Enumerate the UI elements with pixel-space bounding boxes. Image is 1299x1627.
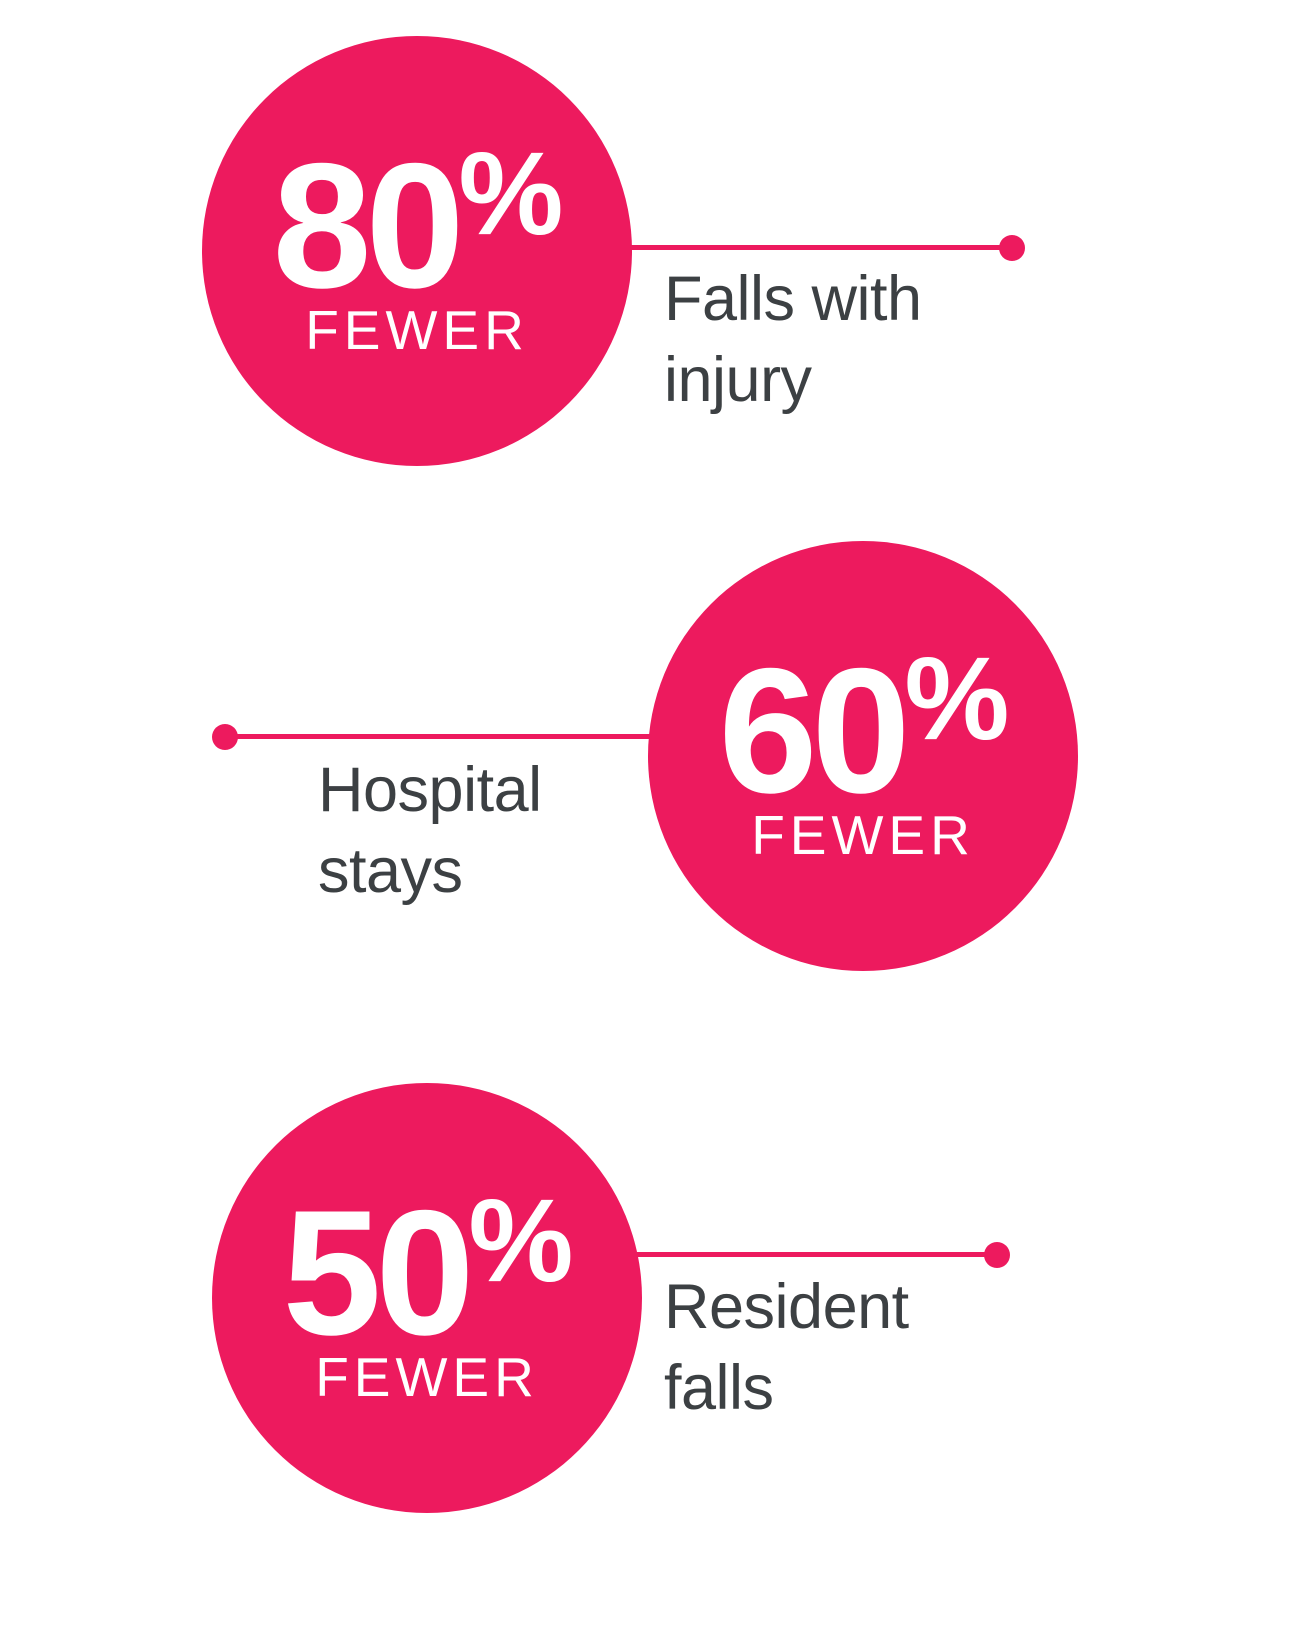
stat-circle-inner: 60% FEWER [719,643,1008,862]
stat-label-hospital-stays: Hospital stays [318,750,718,911]
stat-percent-number: 50 [283,1173,469,1372]
stat-qualifier-hospital-stays: FEWER [751,808,975,863]
stat-circle-resident-falls: 50% FEWER [212,1083,642,1513]
stat-label-resident-falls: Resident falls [664,1267,1084,1428]
connector-dot-hospital-stays [212,724,238,750]
percent-sign-icon: % [905,633,1008,765]
connector-dot-resident-falls [984,1242,1010,1268]
connector-line-hospital-stays [225,734,665,739]
infographic-canvas: 80% FEWER Falls with injury 60% FEWER Ho… [0,0,1299,1627]
percent-sign-icon: % [469,1175,572,1307]
stat-group-resident-falls: 50% FEWER Resident falls [0,0,1299,560]
stat-percent-number: 60 [719,631,905,830]
stat-qualifier-resident-falls: FEWER [315,1350,539,1405]
stat-percent-resident-falls: 50% [283,1191,572,1355]
stat-circle-inner: 50% FEWER [283,1185,572,1404]
stat-percent-hospital-stays: 60% [719,649,1008,813]
connector-line-resident-falls [625,1252,1000,1257]
